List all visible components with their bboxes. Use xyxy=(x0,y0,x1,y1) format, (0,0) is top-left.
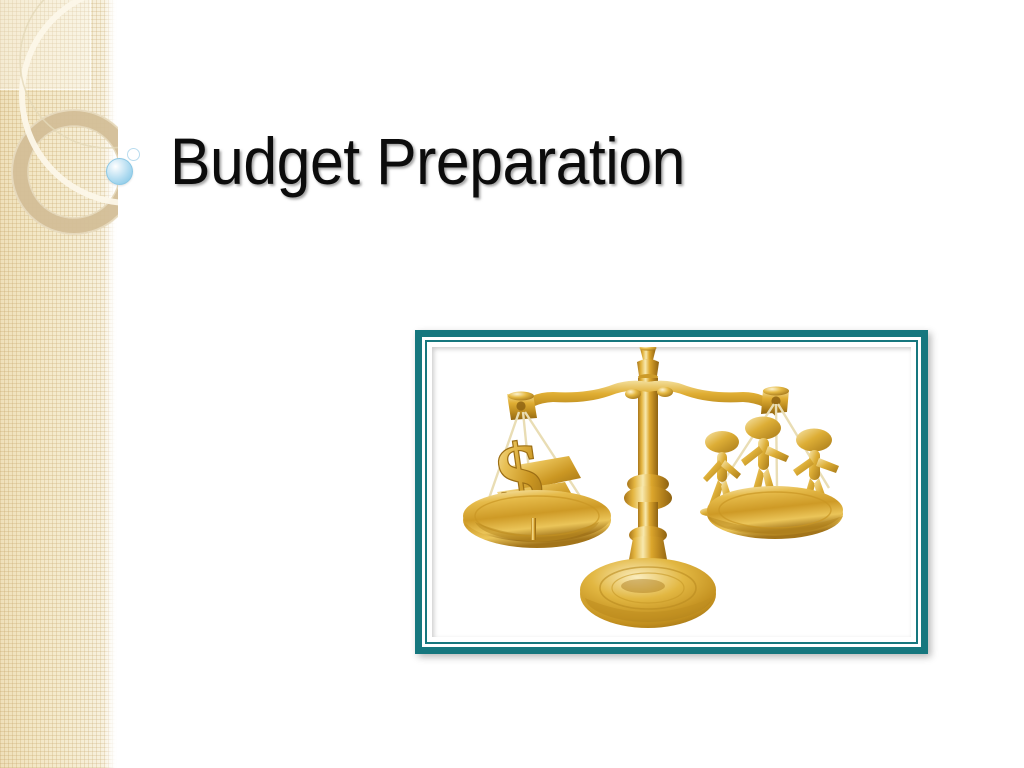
sidebar-rings-decoration xyxy=(0,0,180,340)
balance-scale-image: $ xyxy=(457,342,887,642)
page-title: Budget Preparation xyxy=(170,126,888,197)
scale-cap xyxy=(637,359,659,380)
left-pan xyxy=(463,490,611,548)
scale-baluster xyxy=(624,474,672,570)
scale-shaft xyxy=(638,378,658,484)
scale-pivot-nub-left xyxy=(625,389,641,399)
bubble-small-icon xyxy=(127,148,140,161)
picture-frame[interactable]: $ xyxy=(415,330,928,654)
bubble-large-icon xyxy=(106,158,133,185)
picture-frame-inner-white: $ xyxy=(422,337,921,647)
scale-beam-end-left xyxy=(507,392,537,421)
scale-base xyxy=(580,558,716,628)
slide-canvas: Budget Preparation xyxy=(0,0,1024,768)
right-pan xyxy=(707,486,843,539)
picture-canvas: $ xyxy=(427,342,916,642)
picture-frame-inner-teal: $ xyxy=(425,340,918,644)
scale-pivot-nub-right xyxy=(657,387,673,397)
